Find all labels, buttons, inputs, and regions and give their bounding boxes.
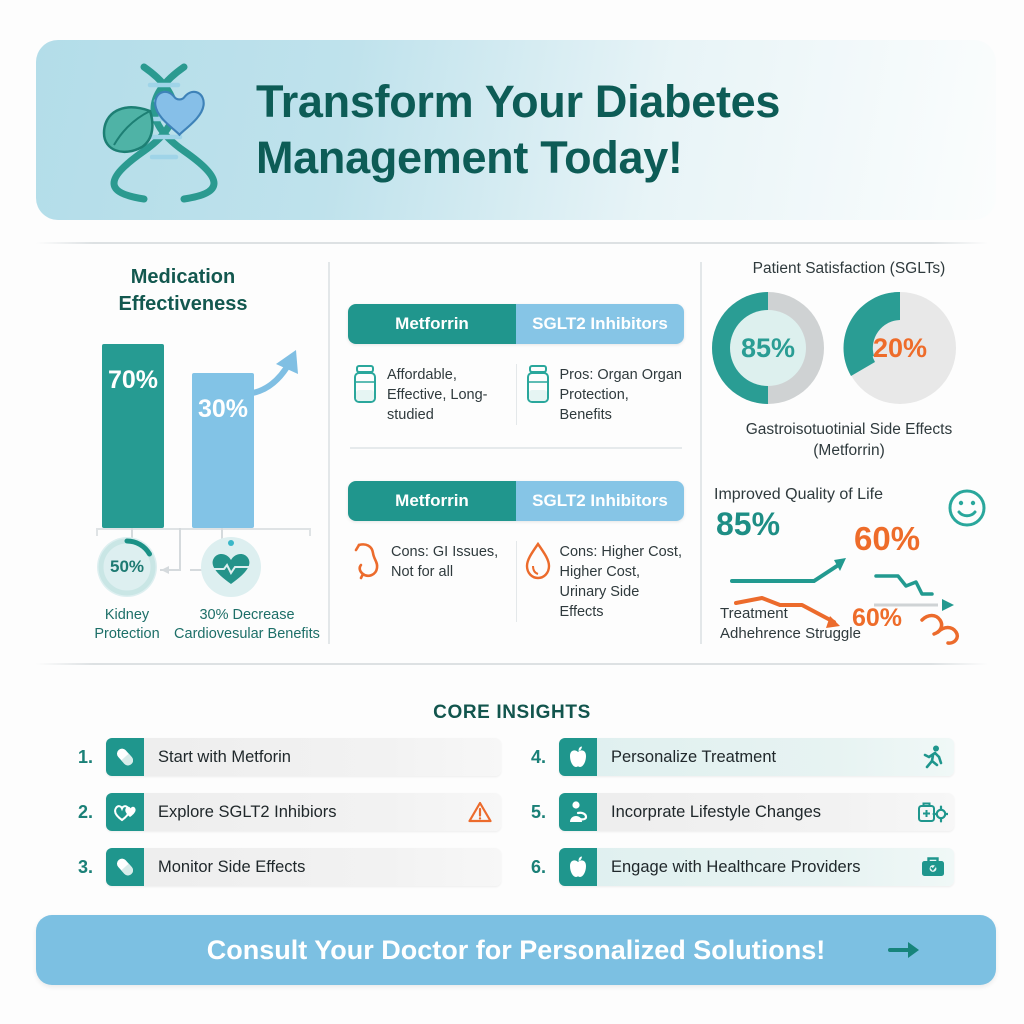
list-item[interactable]: 6. Engage with Healthcare Providers [531, 848, 954, 886]
pill-icon [106, 738, 144, 776]
comparison-pros-cell-metforrin: Affordable, Effective, Long-studied [344, 364, 516, 425]
donut-side-effects: 20% [840, 288, 960, 408]
apple-icon [559, 738, 597, 776]
vial-icon [525, 364, 551, 409]
insight-row[interactable]: Start with Metforin [106, 738, 501, 776]
broken-chain-icon [922, 616, 957, 644]
donut-chart-subtitle: Gastroisotuotinial Side Effects (Metforr… [700, 420, 998, 462]
comparison-cons-header-metforrin[interactable]: Metforrin [348, 481, 516, 521]
comparison-cons-header: Metforrin SGLT2 Inhibitors [348, 481, 684, 521]
comparison-cons-text-sglt2: Cons: Higher Cost, Higher Cost, Urinary … [560, 541, 683, 622]
divider-column-left [328, 262, 330, 644]
bar-value-sglt2: 30% [198, 395, 248, 424]
briefcase-icon [916, 855, 954, 879]
insight-label: Explore SGLT2 Inhibiors [144, 803, 463, 822]
hearts-icon [106, 793, 144, 831]
comparison-cons-block: Metforrin SGLT2 Inhibitors Cons: GI Issu… [344, 481, 688, 622]
cta-banner[interactable]: Consult Your Doctor for Personalized Sol… [36, 915, 996, 985]
list-item[interactable]: 4. Personalize Treatment [531, 738, 954, 776]
cardiovascular-caption: 30% Decrease Cardiovesular Benefits [158, 606, 336, 644]
insight-number: 3. [78, 857, 106, 878]
insight-number: 4. [531, 747, 559, 768]
header-title-line-2: Management Today! [256, 130, 780, 186]
bar-value-metforrin: 70% [108, 366, 158, 395]
divider-middle [36, 663, 988, 665]
infographic-page: Transform Your Diabetes Management Today… [0, 0, 1024, 1024]
list-item[interactable]: 5. Incorprate Lifestyle Changes [531, 793, 954, 831]
runner-icon [916, 745, 954, 769]
apple-icon [559, 848, 597, 886]
comparison-pros-body: Affordable, Effective, Long-studied Pros… [344, 364, 688, 425]
list-item[interactable]: 2. Explore SGLT2 Inhibiors [78, 793, 501, 831]
insight-label: Personalize Treatment [597, 748, 916, 767]
comparison-cons-text-metforrin: Cons: GI Issues, Not for all [391, 541, 510, 582]
insight-number: 6. [531, 857, 559, 878]
bar-metforrin: 70% [102, 344, 164, 528]
medication-effectiveness-panel: Medication Effectiveness 70% 30% [40, 258, 326, 648]
downtrend-line-icon [736, 598, 840, 628]
divider-top [36, 242, 988, 244]
comparison-pros-header: Metforrin SGLT2 Inhibitors [348, 304, 684, 344]
insight-number: 5. [531, 802, 559, 823]
quality-of-life-panel: Improved Quality of Life 85% 60% 60% Tre… [706, 486, 996, 648]
comparison-cons-body: Cons: GI Issues, Not for all Cons: Highe… [344, 541, 688, 622]
kidney-protection-gauge: 50% [96, 536, 158, 598]
chart-title-line-1: Medication [40, 264, 326, 291]
chart-title-line-2: Effectiveness [40, 291, 326, 318]
cta-label: Consult Your Doctor for Personalized Sol… [207, 935, 826, 966]
donut-subtitle-line-1: Gastroisotuotinial Side Effects [700, 420, 998, 441]
cardiovascular-heart-icon [200, 536, 262, 598]
donut-side-effects-value: 20% [840, 288, 960, 408]
droplet-icon [525, 541, 551, 586]
comparison-pros-header-metforrin[interactable]: Metforrin [348, 304, 516, 344]
comparison-pros-header-sglt2[interactable]: SGLT2 Inhibitors [516, 304, 684, 344]
donut-subtitle-line-2: (Metforrin) [700, 441, 998, 462]
core-insights-heading: CORE INSIGHTS [0, 702, 1024, 724]
mini-metrics: 50% Kidney Protection 30% Decrease Cardi… [40, 536, 326, 648]
comparison-pros-text-metforrin: Affordable, Effective, Long-studied [387, 364, 510, 425]
insight-label: Monitor Side Effects [144, 858, 463, 877]
pill-icon [106, 848, 144, 886]
insight-row[interactable]: Personalize Treatment [559, 738, 954, 776]
uptrend-line-icon [732, 558, 846, 581]
comparison-divider [350, 447, 682, 449]
arrow-right-icon[interactable] [888, 939, 922, 966]
comparison-pros-block: Metforrin SGLT2 Inhibitors Affordable, E… [344, 304, 688, 425]
page-title: Transform Your Diabetes Management Today… [234, 74, 780, 186]
header-title-line-1: Transform Your Diabetes [256, 74, 780, 130]
medkit-gear-icon [916, 800, 954, 824]
comparison-cons-header-sglt2[interactable]: SGLT2 Inhibitors [516, 481, 684, 521]
cardio-caption-line-2: Cardiovesular Benefits [158, 625, 336, 644]
insight-row[interactable]: Monitor Side Effects [106, 848, 501, 886]
insight-row[interactable]: Explore SGLT2 Inhibiors [106, 793, 501, 831]
chart-title: Medication Effectiveness [40, 264, 326, 318]
satisfaction-panel: Patient Satisfaction (SGLTs) 85% 20% [706, 258, 992, 648]
stomach-icon [352, 541, 382, 586]
list-item[interactable]: 1. Start with Metforin [78, 738, 501, 776]
insight-label: Incorprate Lifestyle Changes [597, 803, 916, 822]
vial-icon [352, 364, 378, 409]
insight-label: Engage with Healthcare Providers [597, 858, 916, 877]
core-insights-list: 1. Start with Metforin 4. [78, 738, 954, 886]
donut-chart-title: Patient Satisfaction (SGLTs) [706, 260, 992, 278]
insight-row[interactable]: Engage with Healthcare Providers [559, 848, 954, 886]
comparison-pros-text-sglt2: Pros: Organ Organ Protection, Benefits [560, 364, 683, 425]
secondary-downtrend-icon [874, 576, 954, 611]
comparison-panel: Metforrin SGLT2 Inhibitors Affordable, E… [344, 258, 688, 648]
insight-number: 2. [78, 802, 106, 823]
bar-chart: 70% 30% [40, 340, 326, 528]
insight-number: 1. [78, 747, 106, 768]
comparison-cons-cell-sglt2: Cons: Higher Cost, Higher Cost, Urinary … [516, 541, 689, 622]
donut-satisfaction-value: 85% [708, 288, 828, 408]
donut-satisfaction: 85% [708, 288, 828, 408]
smiley-face-icon [950, 491, 984, 525]
header-banner: Transform Your Diabetes Management Today… [36, 40, 996, 220]
bar-sglt2: 30% [192, 373, 254, 528]
dna-leaf-heart-icon [94, 55, 234, 205]
comparison-cons-cell-metforrin: Cons: GI Issues, Not for all [344, 541, 516, 622]
donut-charts: 85% 20% [708, 288, 960, 408]
warning-triangle-icon [463, 801, 501, 823]
kidney-protection-value: 50% [110, 557, 144, 577]
insight-label: Start with Metforin [144, 748, 463, 767]
cardio-caption-line-1: 30% Decrease [158, 606, 336, 625]
person-icon [559, 793, 597, 831]
list-item[interactable]: 3. Monitor Side Effects [78, 848, 501, 886]
comparison-pros-cell-sglt2: Pros: Organ Organ Protection, Benefits [516, 364, 689, 425]
insight-row[interactable]: Incorprate Lifestyle Changes [559, 793, 954, 831]
